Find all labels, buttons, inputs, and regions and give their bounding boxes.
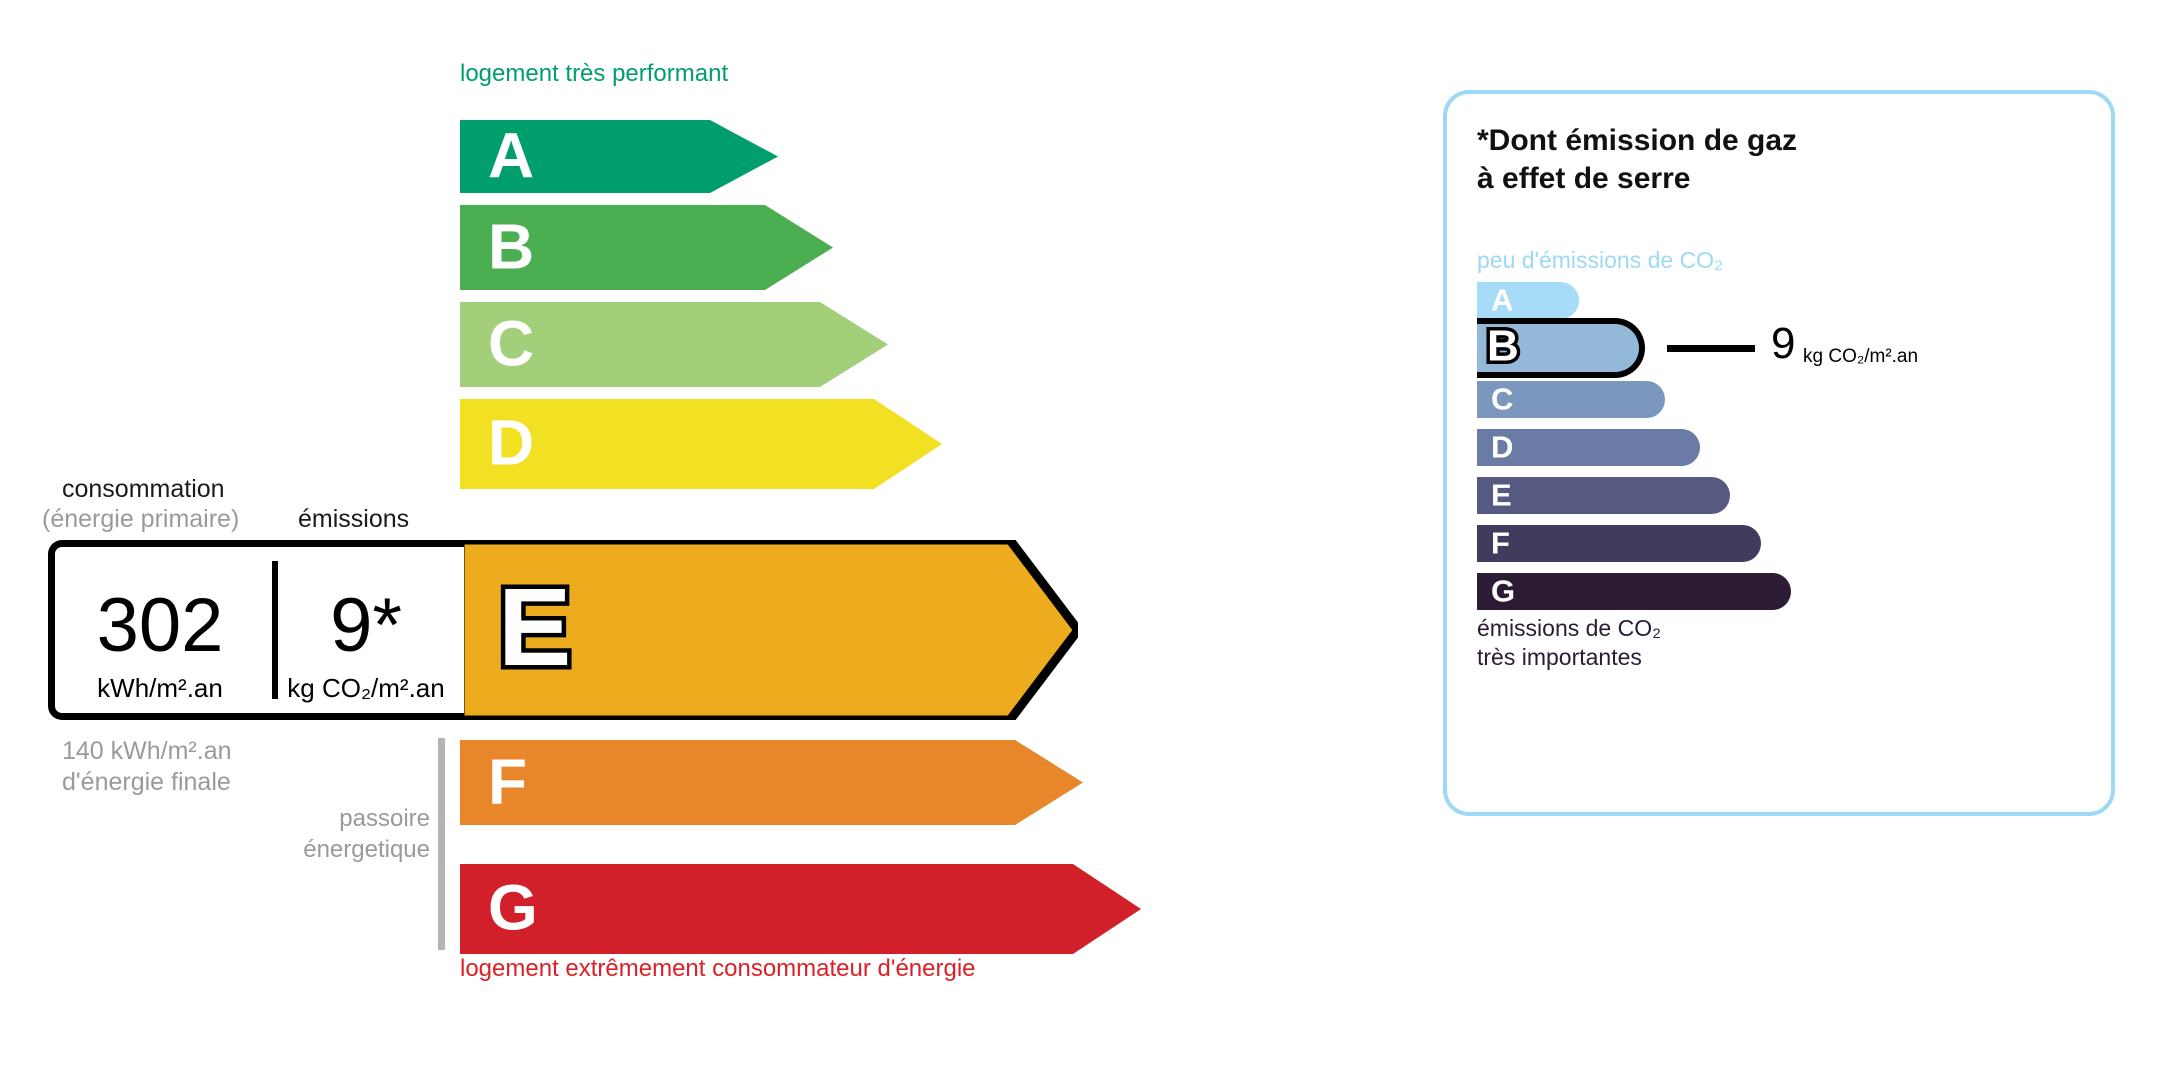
energy-band-f: F	[460, 740, 1083, 825]
co2-bar-b: B	[1477, 318, 1645, 378]
emissions-unit: kg CO₂/m².an	[272, 675, 460, 701]
co2-bar-d: D	[1477, 429, 1700, 466]
co2-bar-letter-c: C	[1491, 383, 1513, 414]
energy-top-caption: logement très performant	[460, 60, 728, 88]
co2-value: 9	[1771, 322, 1795, 366]
energy-bottom-caption: logement extrêmement consommateur d'éner…	[460, 955, 976, 983]
co2-bar-letter-b: B	[1487, 325, 1519, 369]
co2-bar-e: E	[1477, 477, 1730, 514]
consumption-value: 302	[48, 588, 272, 664]
passoire-label-line2: énergetique	[210, 836, 430, 864]
co2-bar-letter-e: E	[1491, 479, 1512, 510]
co2-bar-letter-a: A	[1491, 284, 1513, 315]
consumption-unit: kWh/m².an	[48, 675, 272, 701]
co2-bar-a: A	[1477, 282, 1579, 319]
final-energy-line1: 140 kWh/m².an	[62, 737, 232, 766]
energy-band-g: G	[460, 864, 1141, 954]
co2-top-caption: peu d'émissions de CO₂	[1477, 247, 1723, 274]
consumption-label: consommation	[62, 475, 225, 504]
energy-band-letter-d: D	[488, 411, 534, 475]
energy-band-e: E	[460, 540, 1078, 720]
emissions-label: émissions	[298, 505, 409, 534]
co2-bar-g: G	[1477, 573, 1791, 610]
energy-band-letter-g: G	[488, 876, 538, 940]
co2-bar-letter-g: G	[1491, 575, 1515, 606]
energy-band-c: C	[460, 302, 888, 387]
consumption-sublabel: (énergie primaire)	[42, 505, 239, 534]
co2-bottom-caption: émissions de CO₂ très importantes	[1477, 614, 1661, 672]
energy-band-d: D	[460, 399, 942, 489]
energy-band-letter-a: A	[488, 123, 534, 187]
co2-emissions-panel: *Dont émission de gaz à effet de serre p…	[1443, 90, 2115, 816]
final-energy-line2: d'énergie finale	[62, 768, 231, 797]
co2-bar-c: C	[1477, 381, 1665, 418]
energy-band-a: A	[460, 120, 778, 193]
co2-value-unit: kg CO₂/m².an	[1803, 347, 1918, 366]
passoire-divider	[438, 738, 445, 950]
co2-leader-line	[1667, 345, 1755, 352]
energy-band-letter-e: E	[498, 573, 571, 683]
energy-band-b: B	[460, 205, 833, 290]
co2-bar-f: F	[1477, 525, 1761, 562]
co2-bar-letter-d: D	[1491, 431, 1513, 462]
energy-band-letter-f: F	[488, 749, 527, 813]
energy-band-letter-b: B	[488, 214, 534, 278]
co2-bar-letter-f: F	[1491, 527, 1510, 558]
energy-performance-diagram: logement très performant logement extrêm…	[0, 0, 1400, 1079]
emissions-value: 9*	[272, 588, 460, 664]
passoire-label-line1: passoire	[210, 805, 430, 833]
energy-band-letter-c: C	[488, 311, 534, 375]
co2-panel-title: *Dont émission de gaz à effet de serre	[1477, 122, 1797, 197]
